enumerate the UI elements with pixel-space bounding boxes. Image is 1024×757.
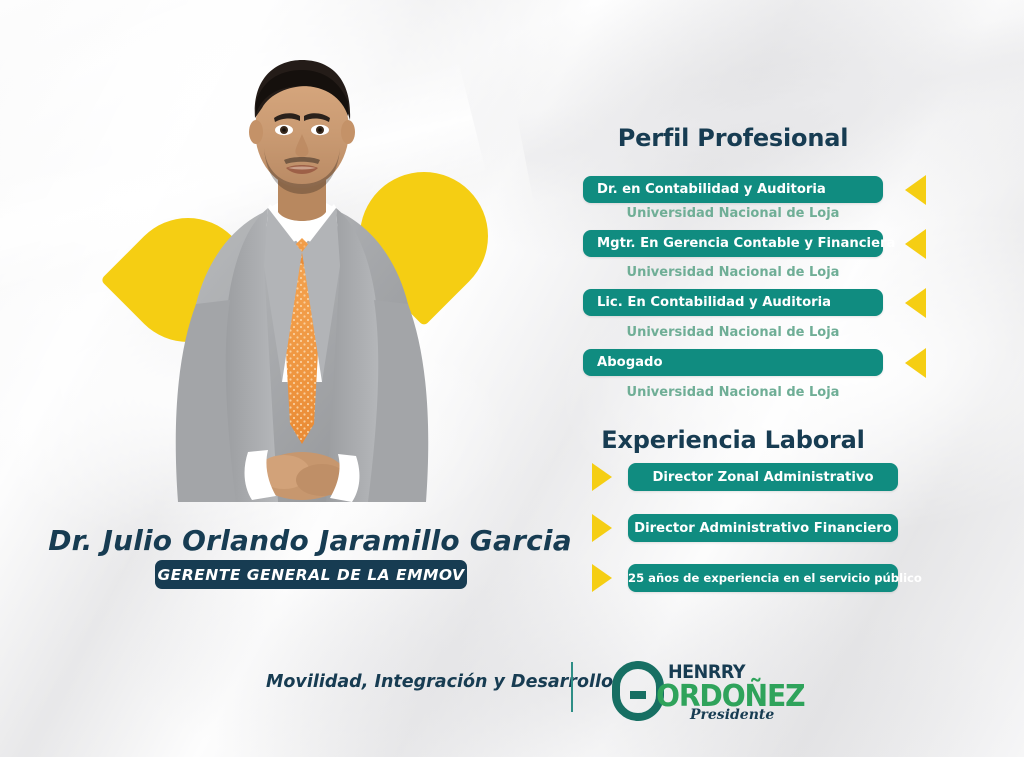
education-pill[interactable]: Abogado: [583, 349, 883, 376]
footer-divider: [571, 662, 573, 712]
arrow-left-icon: [905, 288, 926, 318]
experience-pill[interactable]: Director Administrativo Financiero: [628, 514, 898, 542]
campaign-logo: HENRRY ORDOÑEZ Presidente: [612, 657, 762, 725]
arrow-left-icon: [905, 229, 926, 259]
footer-tagline: Movilidad, Integración y Desarrollo: [266, 672, 613, 692]
arrow-right-icon: [592, 514, 612, 542]
education-pill[interactable]: Lic. En Contabilidad y Auditoria: [583, 289, 883, 316]
education-degree-label: Lic. En Contabilidad y Auditoria: [583, 295, 831, 310]
experience-pill[interactable]: 25 años de experiencia en el servicio pú…: [628, 564, 898, 592]
arrow-left-icon: [905, 175, 926, 205]
person-name: Dr. Julio Orlando Jaramillo Garcia: [0, 524, 620, 557]
poster-canvas: Dr. Julio Orlando Jaramillo Garcia GEREN…: [0, 0, 1024, 757]
education-pill[interactable]: Dr. en Contabilidad y Auditoria: [583, 176, 883, 203]
experience-label: 25 años de experiencia en el servicio pú…: [628, 571, 898, 585]
education-pill[interactable]: Mgtr. En Gerencia Contable y Financiera: [583, 230, 883, 257]
experience-label: Director Administrativo Financiero: [628, 521, 898, 536]
background-ripple: [517, 7, 1024, 202]
education-degree-label: Mgtr. En Gerencia Contable y Financiera: [583, 236, 895, 251]
logo-subtitle: Presidente: [690, 707, 774, 723]
education-institution-label: Universidad Nacional de Loja: [583, 325, 883, 340]
education-degree-label: Abogado: [583, 355, 663, 370]
arrow-left-icon: [905, 348, 926, 378]
portrait-photo: [152, 52, 452, 502]
education-degree-label: Dr. en Contabilidad y Auditoria: [583, 182, 826, 197]
experience-pill[interactable]: Director Zonal Administrativo: [628, 463, 898, 491]
education-institution-label: Universidad Nacional de Loja: [583, 206, 883, 221]
section-title-profile: Perfil Profesional: [583, 124, 883, 152]
education-institution-label: Universidad Nacional de Loja: [583, 385, 883, 400]
arrow-right-icon: [592, 564, 612, 592]
education-institution-label: Universidad Nacional de Loja: [583, 265, 883, 280]
arrow-right-icon: [592, 463, 612, 491]
experience-label: Director Zonal Administrativo: [628, 470, 898, 485]
person-role-label: GERENTE GENERAL DE LA EMMOV: [157, 566, 464, 584]
person-role-badge: GERENTE GENERAL DE LA EMMOV: [155, 560, 467, 589]
section-title-experience: Experiencia Laboral: [583, 426, 883, 454]
